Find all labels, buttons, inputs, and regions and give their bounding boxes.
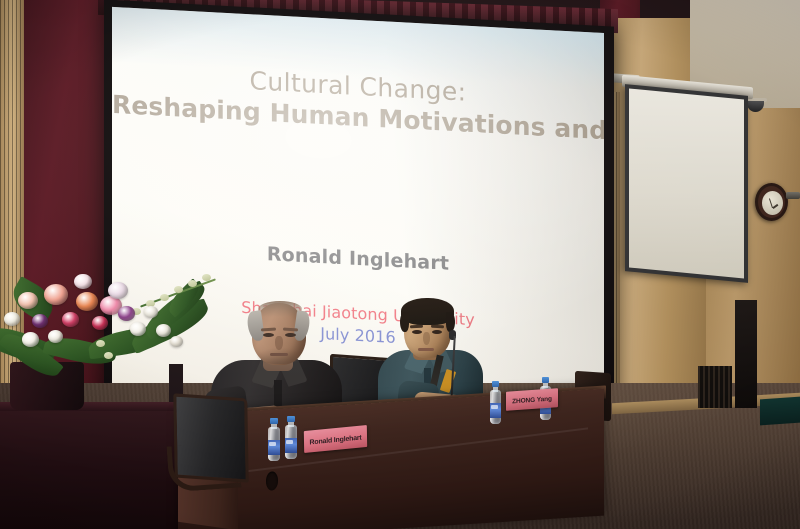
wall-vent-grille [698, 366, 732, 408]
speaker-left-hair-top [258, 301, 302, 317]
speaker-left-eye-left [263, 333, 274, 337]
bottle-label-mark [286, 440, 293, 444]
orchid-bud [104, 352, 113, 359]
bottle-cap [270, 418, 277, 424]
table-cable-hole [266, 471, 278, 491]
clock-face [762, 191, 783, 215]
teal-floor-mat [760, 397, 800, 426]
chair-left-armrest[interactable] [166, 442, 241, 493]
flower-bloom [170, 336, 183, 347]
flower-bloom [48, 330, 63, 343]
flower-bloom [4, 312, 20, 326]
nameplate-right-label: ZHONG Yang [506, 395, 558, 406]
bottle-cap [287, 416, 294, 422]
conference-photo-scene: Cultural Change: Reshaping Human Motivat… [0, 0, 800, 529]
flower-bloom [156, 324, 171, 337]
flower-arrangement [0, 270, 208, 400]
orchid-bud [96, 340, 105, 347]
bottle-label-mark [491, 405, 498, 409]
secondary-projection-screen [625, 84, 748, 283]
speaker-right-mouth [418, 348, 434, 351]
speaker-left-eye-right [285, 333, 296, 337]
water-bottle[interactable] [285, 416, 297, 460]
water-bottle[interactable] [490, 381, 501, 421]
clock-hour-hand [772, 204, 778, 209]
speaker-right-hair-right [446, 312, 455, 332]
orchid-bud [188, 280, 197, 287]
speaker-left-nose [275, 336, 283, 350]
flower-bloom [74, 274, 92, 289]
orchid-bud [174, 286, 183, 293]
speaker-right-hair-left [400, 312, 409, 332]
speaker-right-nose [423, 332, 430, 345]
table-panel-seam [198, 427, 588, 478]
water-bottle[interactable] [268, 418, 280, 462]
orchid-bud [160, 294, 169, 301]
flower-bloom [118, 306, 135, 321]
flower-bloom [22, 332, 39, 347]
clock-minute-hand [769, 198, 773, 208]
speaker-left-mouth [270, 353, 288, 356]
bottle-label-mark [269, 442, 276, 446]
flower-bloom [130, 322, 146, 336]
flower-bloom [44, 284, 68, 305]
wall-clock-icon [755, 183, 788, 221]
flower-bloom [62, 312, 79, 327]
flower-bloom [108, 282, 128, 299]
secondary-screen-surface [629, 88, 744, 278]
flower-bloom [76, 292, 98, 311]
side-doorway [735, 300, 757, 408]
speaker-right-eye-left [412, 330, 422, 334]
orchid-bud [202, 274, 211, 281]
flower-bloom [144, 306, 158, 318]
nameplate-left-label: Ronald Inglehart [304, 434, 367, 447]
speaker-right-eye-right [432, 330, 442, 334]
flower-bloom [92, 316, 108, 330]
bottle-cap [542, 377, 549, 383]
wall-bracket [786, 192, 800, 199]
bottle-cap [492, 381, 499, 387]
stage-riser [0, 408, 186, 529]
flower-bloom [32, 314, 48, 328]
nameplate-right: ZHONG Yang [506, 388, 558, 411]
speaker-right-eyebrow-right [431, 325, 444, 329]
